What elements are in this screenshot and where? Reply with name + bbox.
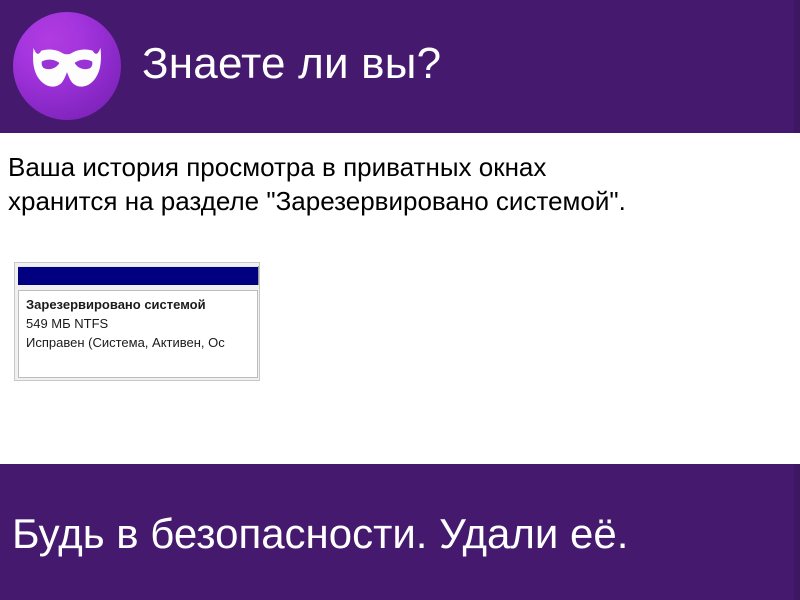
partition-usage-bar [18, 266, 258, 285]
partition-details-panel: Зарезервировано системой 549 МБ NTFS Исп… [18, 290, 258, 378]
partition-screenshot: Зарезервировано системой 549 МБ NTFS Исп… [14, 262, 260, 381]
partition-status: Исправен (Система, Активен, Ос [26, 334, 225, 351]
page-title: Знаете ли вы? [142, 34, 441, 94]
partition-size: 549 МБ NTFS [26, 315, 108, 332]
masquerade-mask-icon [13, 12, 121, 120]
footer-slogan: Будь в безопасности. Удали её. [12, 508, 628, 560]
tip-card: Знаете ли вы? Ваша история просмотра в п… [0, 0, 800, 600]
footer-band: Будь в безопасности. Удали её. [0, 464, 800, 600]
tip-text-line-2: хранится на разделе "Зарезервировано сис… [8, 184, 796, 218]
body-area: Ваша история просмотра в приватных окнах… [0, 133, 800, 464]
partition-usage-bar-cap [258, 266, 260, 285]
tip-text-line-1: Ваша история просмотра в приватных окнах [8, 150, 796, 184]
partition-name: Зарезервировано системой [26, 296, 206, 313]
tip-text: Ваша история просмотра в приватных окнах… [8, 150, 796, 218]
header-band: Знаете ли вы? [0, 0, 800, 133]
